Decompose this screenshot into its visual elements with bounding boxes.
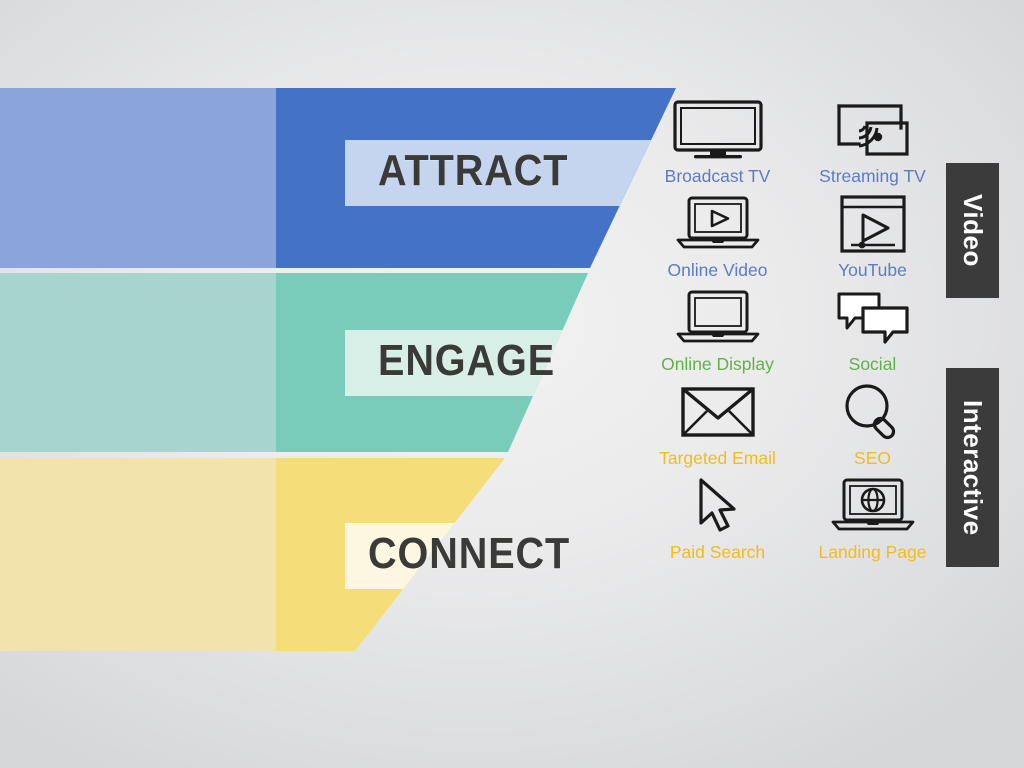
funnel-svg xyxy=(0,0,700,700)
channel-label: SEO xyxy=(854,448,891,469)
category-tab-label: Interactive xyxy=(957,400,988,536)
laptop-globe-icon xyxy=(827,471,919,541)
channel-online-display[interactable]: Online Display xyxy=(640,283,795,377)
envelope-icon xyxy=(678,377,758,447)
channel-label: YouTube xyxy=(838,260,907,281)
channel-targeted-email[interactable]: Targeted Email xyxy=(640,377,795,471)
channel-row: Online Video YouTube xyxy=(640,189,950,283)
channel-streaming-tv[interactable]: Streaming TV xyxy=(795,95,950,189)
chat-bubbles-icon xyxy=(833,283,913,353)
category-tab-interactive[interactable]: Interactive xyxy=(946,368,999,567)
funnel-band-engage xyxy=(0,270,700,460)
funnel-band-attract xyxy=(0,80,700,280)
funnel-graphic: ATTRACT ENGAGE CONNECT xyxy=(0,0,700,700)
tv-monitor-icon xyxy=(672,95,764,165)
channel-label: Targeted Email xyxy=(659,448,776,469)
channel-online-video[interactable]: Online Video xyxy=(640,189,795,283)
band-connect-left xyxy=(0,455,276,655)
funnel-diagram: ATTRACT ENGAGE CONNECT Broadcast TV xyxy=(0,0,1024,768)
stage-label-attract: ATTRACT xyxy=(378,146,568,196)
cursor-arrow-icon xyxy=(687,471,749,541)
category-tab-label: Video xyxy=(957,194,988,267)
channel-landing-page[interactable]: Landing Page xyxy=(795,471,950,565)
channel-row: Online Display Social xyxy=(640,283,950,377)
band-attract-left xyxy=(0,80,276,280)
laptop-icon xyxy=(672,283,764,353)
channel-row: Paid Search Landing Page xyxy=(640,471,950,565)
channel-label: Paid Search xyxy=(670,542,765,563)
channel-grid: Broadcast TV Streaming TV xyxy=(640,95,950,565)
funnel-band-connect xyxy=(0,455,700,655)
band-engage-left xyxy=(0,270,276,460)
channel-label: Social xyxy=(849,354,897,375)
magnifier-icon xyxy=(840,377,906,447)
stage-label-connect: CONNECT xyxy=(368,529,570,579)
channel-broadcast-tv[interactable]: Broadcast TV xyxy=(640,95,795,189)
laptop-play-icon xyxy=(672,189,764,259)
channel-label: Online Video xyxy=(668,260,768,281)
channel-label: Broadcast TV xyxy=(665,166,771,187)
channel-row: Broadcast TV Streaming TV xyxy=(640,95,950,189)
channel-label: Online Display xyxy=(661,354,774,375)
channel-social[interactable]: Social xyxy=(795,283,950,377)
screen-cast-icon xyxy=(831,95,915,165)
channel-youtube[interactable]: YouTube xyxy=(795,189,950,283)
channel-row: Targeted Email SEO xyxy=(640,377,950,471)
channel-label: Streaming TV xyxy=(819,166,926,187)
channel-paid-search[interactable]: Paid Search xyxy=(640,471,795,565)
category-tab-video[interactable]: Video xyxy=(946,163,999,298)
channel-seo[interactable]: SEO xyxy=(795,377,950,471)
channel-label: Landing Page xyxy=(818,542,926,563)
video-player-icon xyxy=(837,189,909,259)
stage-label-engage: ENGAGE xyxy=(378,336,555,386)
